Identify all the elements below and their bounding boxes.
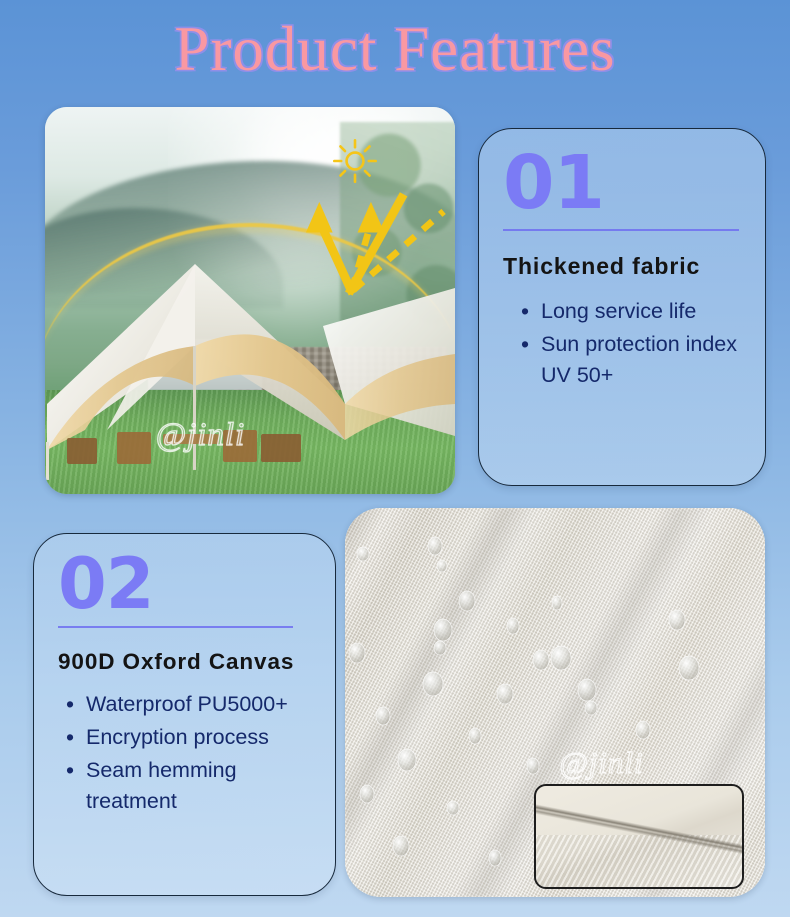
feature-number: 02 — [58, 552, 153, 618]
seam-detail-inset — [534, 784, 744, 889]
feature-number: 01 — [503, 149, 604, 219]
watermark: @jinli — [559, 745, 643, 781]
list-item: Long service life — [515, 296, 741, 327]
list-item: Sun protection index UV 50+ — [515, 329, 741, 391]
tent-photo: @jinli — [45, 107, 455, 494]
feature-card-02[interactable]: 02 900D Oxford Canvas Waterproof PU5000+… — [33, 533, 336, 896]
feature-heading: 900D Oxford Canvas — [58, 646, 313, 677]
list-item: Encryption process — [60, 722, 313, 753]
list-item: Waterproof PU5000+ — [60, 689, 313, 720]
feature-card-01[interactable]: 01 Thickened fabric Long service life Su… — [478, 128, 766, 486]
feature-heading: Thickened fabric — [503, 251, 741, 283]
feature-bullet-list: Long service life Sun protection index U… — [515, 296, 741, 391]
uv-reflection-arrows — [275, 177, 455, 340]
divider — [503, 229, 739, 231]
watermark: @jinli — [156, 417, 246, 454]
page-title: Product Features — [0, 16, 790, 82]
feature-bullet-list: Waterproof PU5000+ Encryption process Se… — [60, 689, 313, 817]
divider — [58, 626, 293, 628]
list-item: Seam hemming treatment — [60, 755, 313, 817]
fabric-photo: @jinli — [345, 508, 765, 897]
infographic-stage: Product Features — [0, 0, 790, 917]
